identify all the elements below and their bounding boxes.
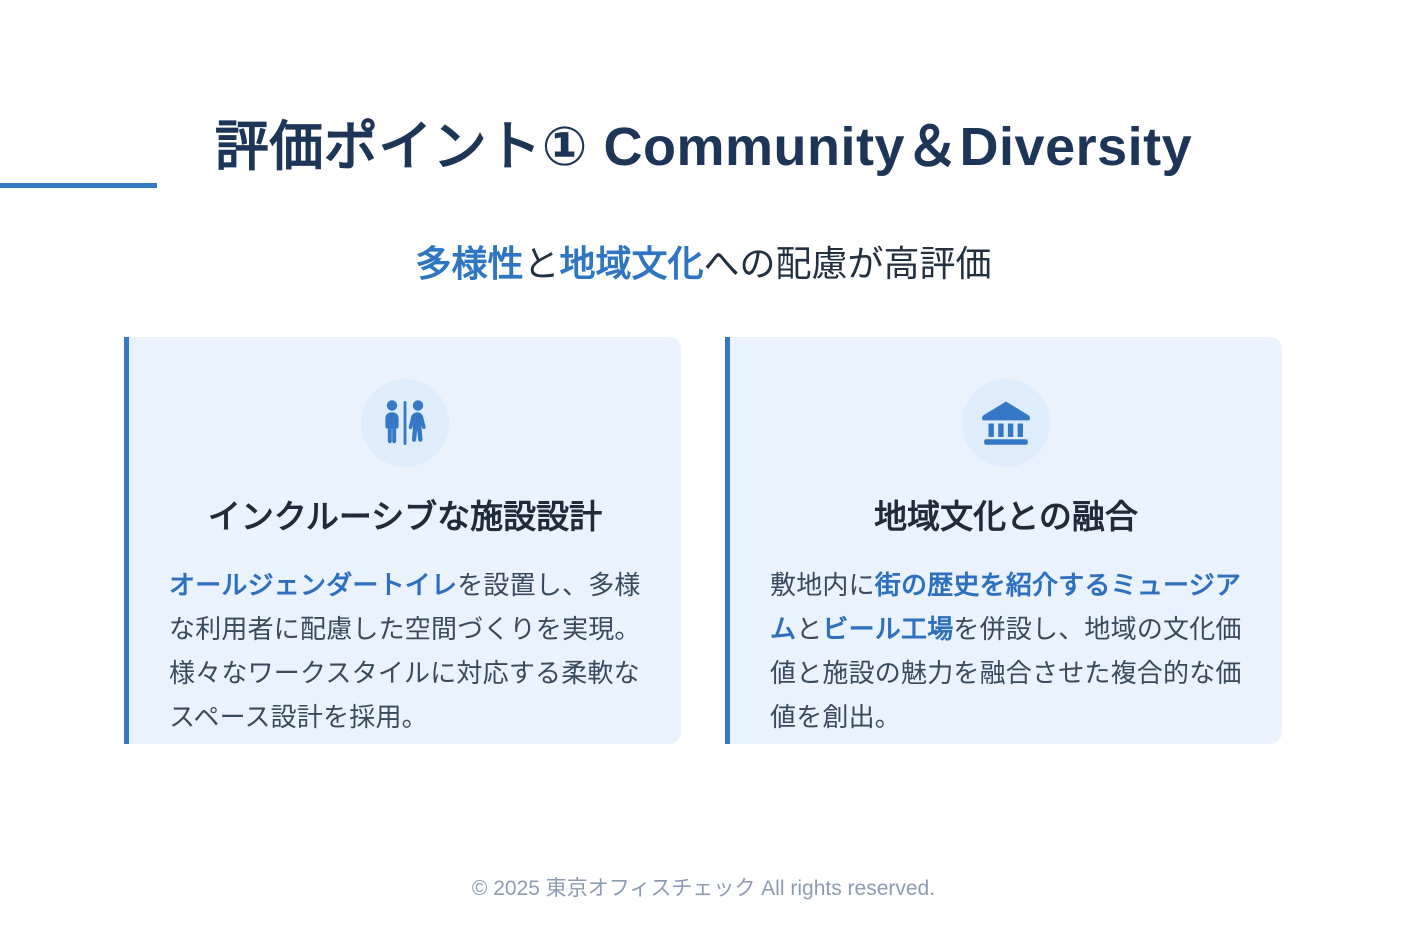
card-heading: 地域文化との融合: [730, 497, 1282, 537]
page-title: 評価ポイント① Community＆Diversity: [0, 116, 1407, 178]
card-body: オールジェンダートイレを設置し、多様な利用者に配慮した空間づくりを実現。様々なワ…: [169, 563, 641, 739]
subtitle-highlight-local-culture: 地域文化: [560, 243, 704, 284]
page-title-en: Community＆Diversity: [604, 117, 1193, 177]
subtitle: 多様性と地域文化への配慮が高評価: [0, 241, 1407, 288]
footer-copyright: © 2025 東京オフィスチェック All rights reserved.: [0, 874, 1407, 903]
card-body-mid: と: [796, 614, 822, 644]
card-list: インクルーシブな施設設計 オールジェンダートイレを設置し、多様な利用者に配慮した…: [124, 337, 1283, 744]
page-title-jp: 評価ポイント①: [215, 117, 604, 177]
restroom-icon: [361, 379, 449, 467]
subtitle-highlight-diversity: 多様性: [415, 243, 523, 284]
card-body-highlight-2: ビール工場: [822, 614, 953, 644]
museum-icon: [962, 379, 1050, 467]
title-accent-bar: [0, 183, 157, 188]
card-body: 敷地内に街の歴史を紹介するミュージアムとビール工場を併設し、地域の文化価値と施設…: [770, 563, 1242, 739]
card-body-lead: 敷地内に: [770, 570, 875, 600]
card-inclusive-facility-design: インクルーシブな施設設計 オールジェンダートイレを設置し、多様な利用者に配慮した…: [124, 337, 681, 744]
card-heading: インクルーシブな施設設計: [129, 497, 681, 537]
card-local-culture-fusion: 地域文化との融合 敷地内に街の歴史を紹介するミュージアムとビール工場を併設し、地…: [725, 337, 1282, 744]
subtitle-plain-2: への配慮が高評価: [704, 243, 992, 284]
slide-root: 評価ポイント① Community＆Diversity 多様性と地域文化への配慮…: [0, 0, 1407, 938]
subtitle-plain-1: と: [523, 243, 559, 284]
card-body-highlight: オールジェンダートイレ: [169, 570, 457, 600]
